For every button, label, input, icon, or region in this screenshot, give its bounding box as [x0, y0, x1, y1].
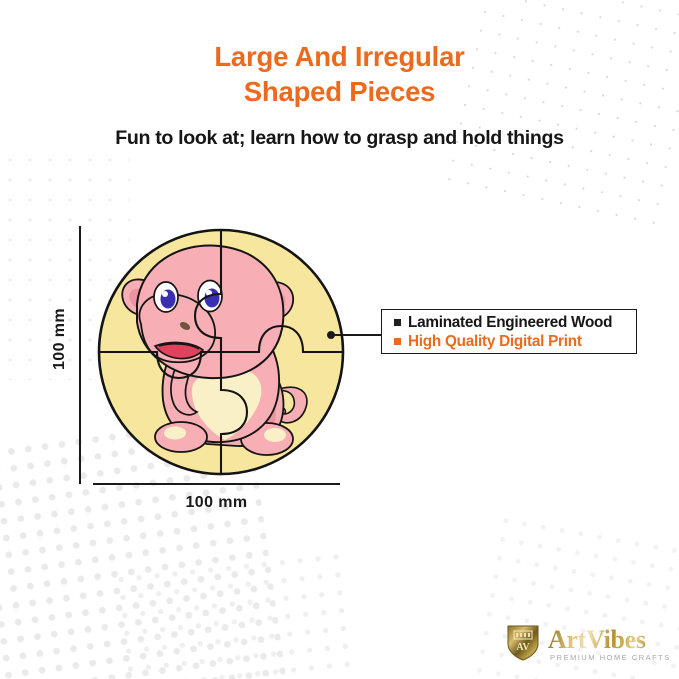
page-subtitle: Fun to look at; learn how to grasp and h… — [0, 127, 679, 150]
legend-item-digital-print: High Quality Digital Print — [394, 332, 636, 351]
svg-text:AV: AV — [516, 642, 530, 653]
square-bullet-orange-icon — [394, 338, 401, 345]
material-legend: Laminated Engineered Wood High Quality D… — [381, 309, 637, 354]
width-dimension-line — [93, 483, 340, 485]
brand-tagline: PREMIUM HOME CRAFTS — [548, 653, 671, 662]
halftone-dots-bottom-center — [111, 547, 359, 679]
page-title-line-2: Shaped Pieces — [0, 74, 679, 109]
legend-item-label: High Quality Digital Print — [408, 333, 582, 351]
height-dimension-label: 100 mm — [51, 274, 69, 404]
hippo-circle-puzzle — [97, 228, 345, 476]
halftone-speckle-top-right — [438, 0, 679, 236]
width-dimension-label: 100 mm — [93, 494, 340, 512]
page-title-line-1: Large And Irregular — [0, 39, 679, 74]
square-bullet-dark-icon — [394, 319, 401, 326]
hippo-eye-highlight-left — [162, 291, 168, 297]
brand-logo: AV ArtVibes PREMIUM HOME CRAFTS — [505, 622, 671, 667]
hippo-front-foot-pad — [164, 427, 186, 440]
brand-name: ArtVibes — [548, 627, 671, 652]
hippo-rear-foot-pad — [264, 428, 286, 442]
infographic-canvas: Large And Irregular Shaped Pieces Fun to… — [0, 0, 679, 679]
callout-leader-line — [331, 334, 382, 336]
legend-item-laminated-wood: Laminated Engineered Wood — [394, 313, 636, 332]
height-dimension-line — [79, 226, 81, 484]
legend-item-label: Laminated Engineered Wood — [408, 314, 612, 332]
brand-text: ArtVibes PREMIUM HOME CRAFTS — [548, 627, 671, 662]
page-title: Large And Irregular Shaped Pieces — [0, 39, 679, 109]
shield-icon: AV — [505, 622, 541, 667]
